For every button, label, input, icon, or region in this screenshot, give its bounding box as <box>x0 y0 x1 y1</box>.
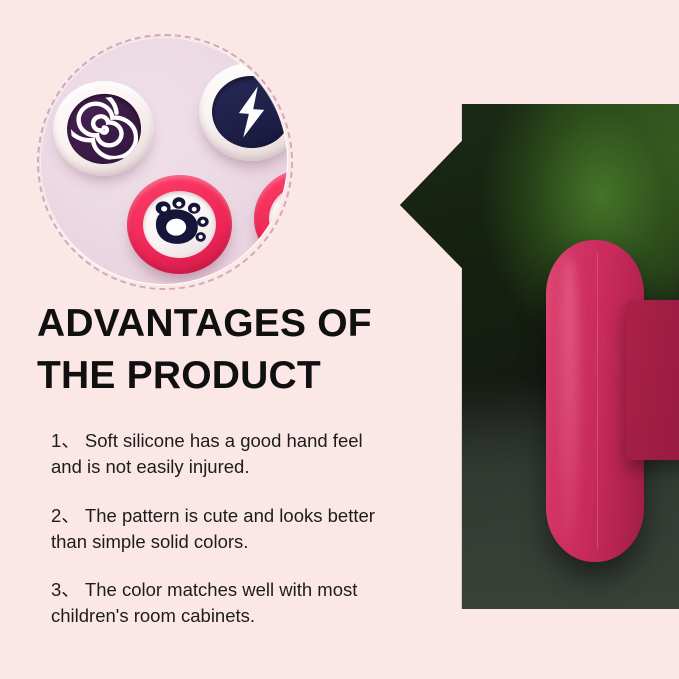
four-knobs-photo <box>39 36 287 284</box>
starburst-icon <box>274 188 287 248</box>
knob-lightning <box>196 59 287 164</box>
knob-spiral <box>48 76 158 181</box>
knob-lightning-face <box>209 73 287 150</box>
lightning-bolt-icon <box>229 83 273 142</box>
knob-starburst-face <box>268 183 287 254</box>
list-item: 2、 The pattern is cute and looks better … <box>51 503 381 556</box>
spiral-icon <box>67 94 139 163</box>
page-title-line-1: ADVANTAGES OF <box>37 298 387 350</box>
list-item: 3、 The color matches well with most chil… <box>51 577 381 630</box>
list-item: 1、 Soft silicone has a good hand feel an… <box>51 428 381 481</box>
paw-print-icon <box>147 195 212 254</box>
knob-seam <box>597 253 598 549</box>
pink-knob-installed-photo <box>400 104 679 609</box>
product-infographic: ADVANTAGES OF THE PRODUCT 1、 Soft silico… <box>0 0 679 679</box>
knob-starburst <box>252 167 287 270</box>
page-title: ADVANTAGES OF THE PRODUCT <box>37 298 387 402</box>
page-title-line-2: THE PRODUCT <box>37 350 387 402</box>
knob-highlight <box>560 256 580 546</box>
knob-paw-print <box>124 172 234 276</box>
knob-spiral-face <box>63 90 144 167</box>
advantages-list: 1、 Soft silicone has a good hand feel an… <box>51 428 381 630</box>
knob-paw-print-face <box>141 189 217 260</box>
pink-knob-stem <box>626 300 679 460</box>
